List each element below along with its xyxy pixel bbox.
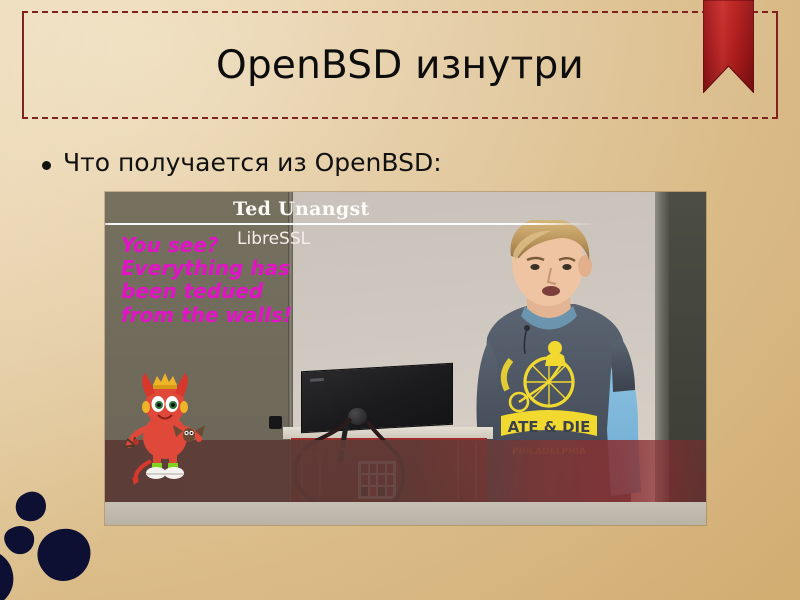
ribbon-bookmark-icon (703, 0, 754, 93)
bullet-text: Что получается из OpenBSD: (63, 148, 442, 177)
bullet-list: Что получается из OpenBSD: (42, 148, 442, 177)
photo-floor-strip (105, 502, 706, 525)
speaker-name: Ted Unangst (233, 198, 370, 220)
overlay-line-1: You see? (121, 234, 301, 257)
ink-blob-decoration (0, 466, 160, 600)
slide-canvas: OpenBSD изнутри (0, 0, 800, 600)
overlay-line-3: been tedued (121, 280, 301, 303)
bullet-marker-icon (42, 161, 51, 170)
overlay-caption: You see? Everything has been tedued from… (121, 234, 301, 327)
overlay-line-2: Everything has (121, 257, 301, 280)
photo-column-dark (669, 192, 706, 525)
page-title: OpenBSD изнутри (22, 11, 778, 119)
overlay-line-3-bold: tedued (184, 279, 264, 303)
conference-talk-photo: ATE & DIE PHILADELPHIA (105, 192, 706, 525)
overlay-line-4: from the walls! (121, 304, 301, 327)
svg-text:ATE & DIE: ATE & DIE (508, 418, 591, 436)
lower-third-rule (105, 223, 596, 225)
overlay-line-3-prefix: been (121, 279, 184, 303)
